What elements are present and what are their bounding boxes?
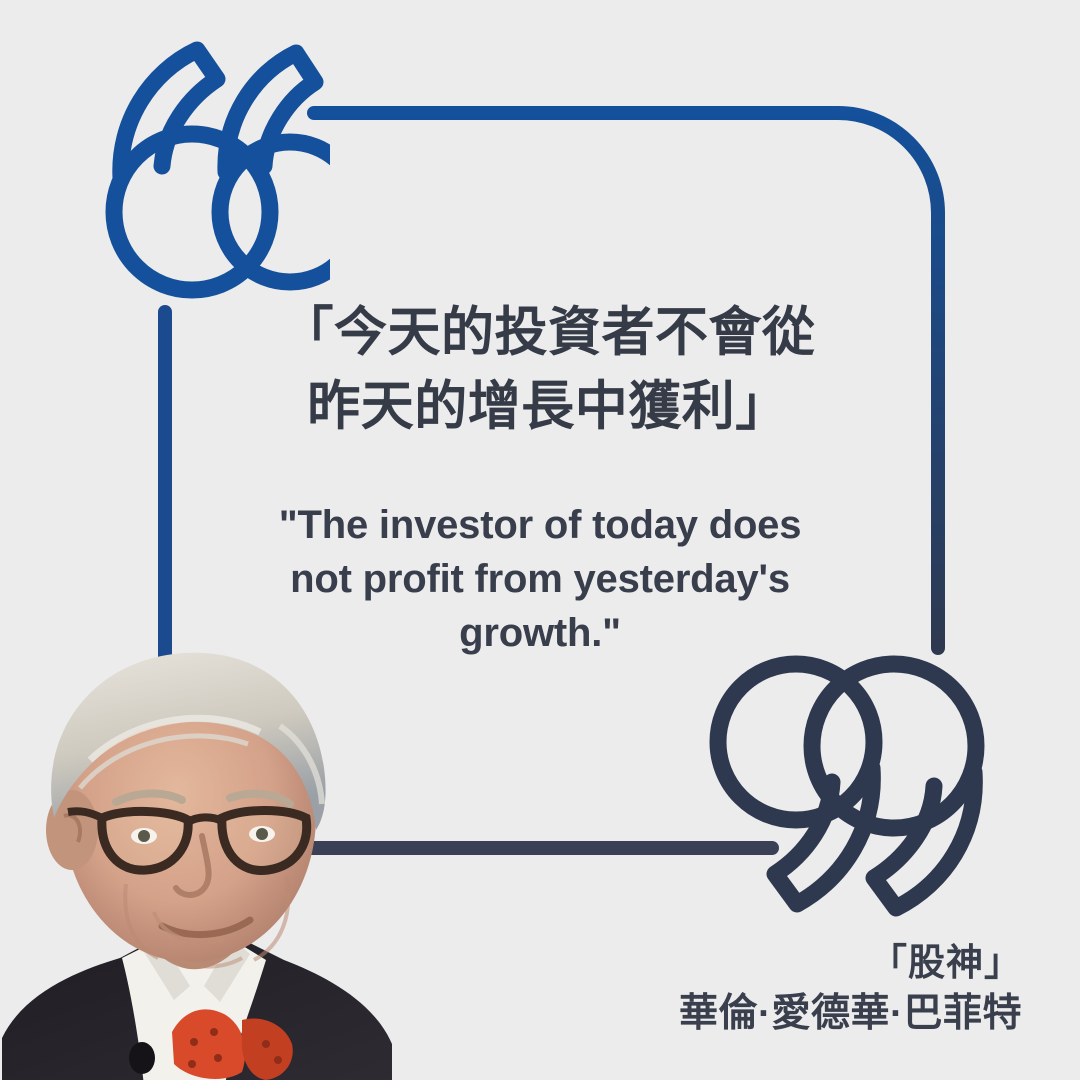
quote-english: "The investor of today does not profit f… xyxy=(230,498,850,660)
quote-chinese-line-2: 昨天的增長中獲利」 xyxy=(228,370,868,444)
portrait-layers xyxy=(2,653,392,1080)
quote-card: 「今天的投資者不會從 昨天的增長中獲利」 "The investor of to… xyxy=(0,0,1080,1080)
attribution-nickname: 「股神」 xyxy=(679,938,1022,988)
quote-english-line-2: not profit from yesterday's xyxy=(230,552,850,606)
quote-chinese: 「今天的投資者不會從 昨天的增長中獲利」 xyxy=(228,296,868,444)
quote-open-icon xyxy=(104,38,330,304)
attribution: 「股神」 華倫·愛德華·巴菲特 xyxy=(679,938,1022,1040)
attribution-full-name: 華倫·愛德華·巴菲特 xyxy=(679,988,1022,1040)
warren-buffett-portrait xyxy=(0,640,394,1080)
quote-chinese-line-1: 「今天的投資者不會從 xyxy=(228,296,868,370)
portrait-lapel-mic xyxy=(129,1042,155,1074)
portrait-eye-left-iris xyxy=(138,830,150,842)
portrait-eye-right-iris xyxy=(256,828,268,840)
quote-english-line-1: "The investor of today does xyxy=(230,498,850,552)
quote-close-icon xyxy=(702,650,988,926)
